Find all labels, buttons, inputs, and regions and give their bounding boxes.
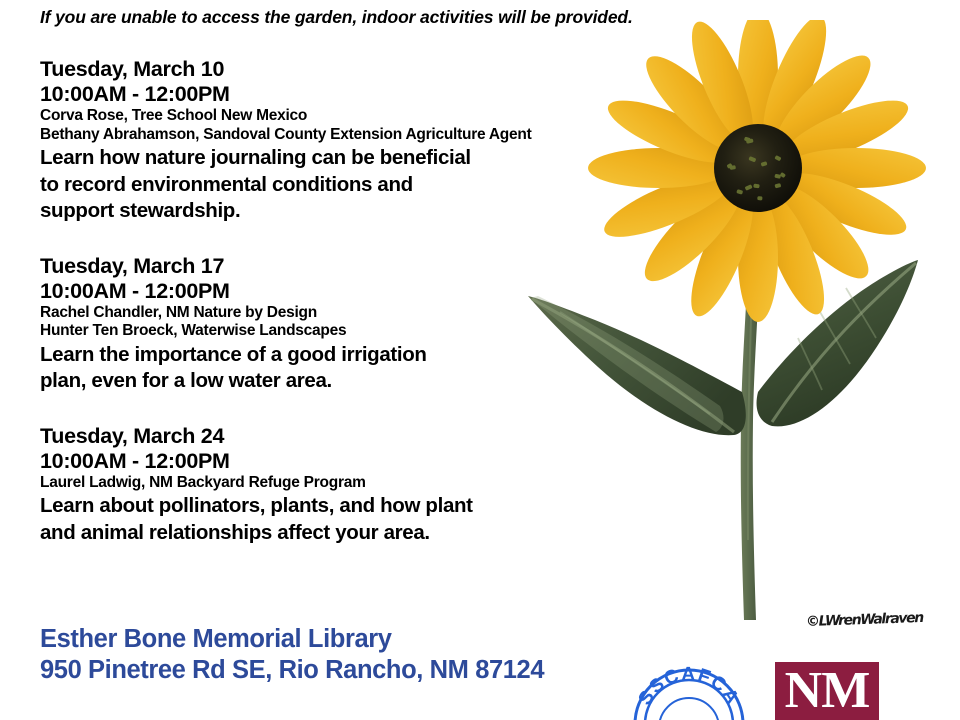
program-text-column: If you are unable to access the garden, … [40,0,650,546]
accessibility-note: If you are unable to access the garden, … [40,7,650,27]
logo-row: SSCAFCA NM [620,658,950,720]
session-description-line: and animal relationships affect your are… [40,520,650,547]
session-time: 10:00AM - 12:00PM [40,82,650,107]
session-presenter: Bethany Abrahamson, Sandoval County Exte… [40,126,650,145]
session-description: Learn about pollinators, plants, and how… [40,493,650,546]
session-block: Tuesday, March 24 10:00AM - 12:00PM Laur… [40,424,650,547]
flyer-page: ©LWrenWalraven If you are unable to acce… [0,0,960,720]
session-description-line: Learn about pollinators, plants, and how… [40,493,650,520]
session-block: Tuesday, March 17 10:00AM - 12:00PM Rach… [40,254,650,395]
session-time: 10:00AM - 12:00PM [40,279,650,304]
session-date: Tuesday, March 10 [40,57,650,82]
session-description-line: Learn how nature journaling can be benef… [40,145,650,172]
sscafca-logo: SSCAFCA [625,658,753,720]
session-date: Tuesday, March 17 [40,254,650,279]
session-description: Learn the importance of a good irrigatio… [40,342,650,395]
session-block: Tuesday, March 10 10:00AM - 12:00PM Corv… [40,57,650,225]
session-description-line: support stewardship. [40,198,650,225]
session-description: Learn how nature journaling can be benef… [40,145,650,225]
session-description-line: to record environmental conditions and [40,172,650,199]
session-description-line: Learn the importance of a good irrigatio… [40,342,650,369]
session-presenter: Hunter Ten Broeck, Waterwise Landscapes [40,322,650,341]
venue-name: Esther Bone Memorial Library [40,624,544,655]
venue-block: Esther Bone Memorial Library 950 Pinetre… [40,624,544,686]
session-description-line: plan, even for a low water area. [40,368,650,395]
session-date: Tuesday, March 24 [40,424,650,449]
session-presenter: Laurel Ladwig, NM Backyard Refuge Progra… [40,474,650,493]
session-presenter: Rachel Chandler, NM Nature by Design [40,304,650,323]
artist-signature: ©LWrenWalraven [806,610,923,630]
session-time: 10:00AM - 12:00PM [40,449,650,474]
session-presenter: Corva Rose, Tree School New Mexico [40,107,650,126]
venue-address: 950 Pinetree Rd SE, Rio Rancho, NM 87124 [40,655,544,686]
nmsu-logo: NM [775,662,879,720]
